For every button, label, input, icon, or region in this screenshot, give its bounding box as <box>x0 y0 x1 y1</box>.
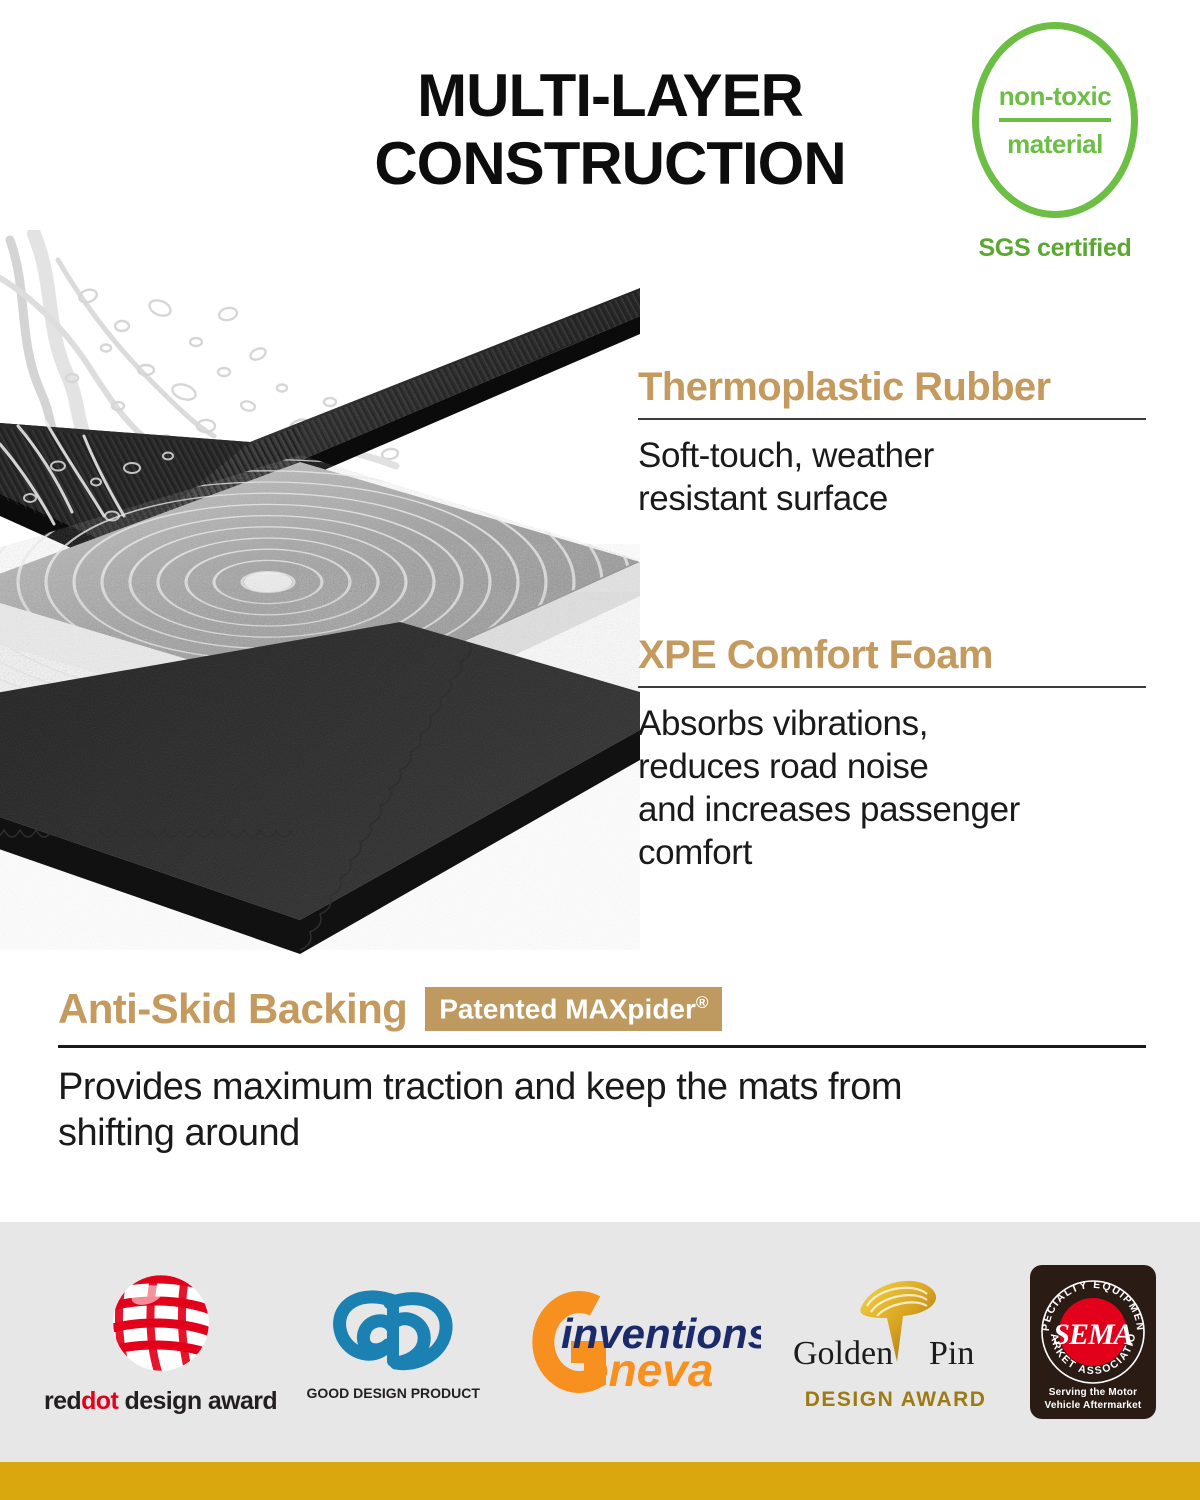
award-label-good-design: GOOD DESIGN PRODUCT <box>306 1385 479 1401</box>
feature-anti-skid-backing: Anti-Skid Backing Patented MAXpider® Pro… <box>58 985 1146 1157</box>
non-toxic-badge: non-toxic material SGS certified <box>950 22 1160 263</box>
sema-tagline-1: Serving the Motor <box>1030 1387 1156 1400</box>
registered-mark-icon: ® <box>696 993 709 1012</box>
badge-top-text: non-toxic <box>999 80 1112 113</box>
reddot-word-designaward: design award <box>118 1387 277 1415</box>
feature-body: Absorbs vibrations, reduces road noise a… <box>638 702 1146 874</box>
feature-body: Provides maximum traction and keep the m… <box>58 1064 1146 1157</box>
award-logo-sema: SPECIALTY EQUIPMENT MARKET ASSOCIATION S… <box>1030 1265 1156 1419</box>
golden-pin-word-pin: Pin <box>929 1335 974 1372</box>
geneva-word: eneva <box>583 1344 713 1396</box>
feature-heading: Anti-Skid Backing <box>58 985 407 1033</box>
patented-maxpider-badge: Patented MAXpider® <box>425 987 722 1031</box>
sema-card: SPECIALTY EQUIPMENT MARKET ASSOCIATION S… <box>1030 1265 1156 1419</box>
badge-divider <box>999 118 1111 122</box>
page-title-line-2: CONSTRUCTION <box>330 130 890 198</box>
feature-thermoplastic-rubber: Thermoplastic Rubber Soft-touch, weather… <box>638 366 1146 520</box>
award-label-golden-pin-sub: DESIGN AWARD <box>805 1388 987 1412</box>
golden-pin-word-golden: Golden <box>793 1335 893 1372</box>
red-striped-sphere-icon <box>107 1269 215 1377</box>
feature-heading: Thermoplastic Rubber <box>638 366 1146 408</box>
award-label-reddot: reddot design award <box>44 1387 277 1416</box>
feature-heading: XPE Comfort Foam <box>638 634 1146 676</box>
sema-tagline-2: Vehicle Aftermarket <box>1030 1400 1156 1413</box>
feature-xpe-comfort-foam: XPE Comfort Foam Absorbs vibrations, red… <box>638 634 1146 874</box>
award-logo-strip: reddot design award GOOD DESIGN PRODUCT … <box>0 1222 1200 1462</box>
award-logo-good-design: GOOD DESIGN PRODUCT <box>306 1283 479 1401</box>
sema-tagline: Serving the Motor Vehicle Aftermarket <box>1030 1387 1156 1412</box>
award-logo-golden-pin: Golden Pin DESIGN AWARD <box>791 1272 1001 1412</box>
badge-circle: non-toxic material <box>972 22 1138 218</box>
feature-divider <box>638 418 1146 420</box>
svg-text:SEMA: SEMA <box>1053 1318 1132 1351</box>
gd-swirl-icon <box>326 1283 460 1379</box>
feature-body: Soft-touch, weather resistant surface <box>638 434 1146 520</box>
feature-divider <box>58 1045 1146 1048</box>
sgs-certified-label: SGS certified <box>950 234 1160 263</box>
page-title: MULTI-LAYER CONSTRUCTION <box>330 62 890 198</box>
golden-pin-icon: Golden Pin <box>791 1272 1001 1382</box>
award-logo-inventions-geneva: inventions eneva <box>509 1286 761 1398</box>
sema-seal-icon: SPECIALTY EQUIPMENT MARKET ASSOCIATION S… <box>1033 1270 1153 1390</box>
reddot-word-dot: dot <box>81 1387 118 1415</box>
page-title-line-1: MULTI-LAYER <box>330 62 890 130</box>
feature-divider <box>638 686 1146 688</box>
patent-badge-label: Patented MAXpider <box>439 993 696 1024</box>
award-logo-reddot: reddot design award <box>44 1269 277 1416</box>
reddot-word-red: red <box>44 1387 81 1415</box>
inventions-geneva-icon: inventions eneva <box>509 1286 761 1398</box>
badge-bottom-text: material <box>1007 128 1103 161</box>
footer-accent-bar <box>0 1462 1200 1500</box>
product-layer-illustration <box>0 230 640 990</box>
